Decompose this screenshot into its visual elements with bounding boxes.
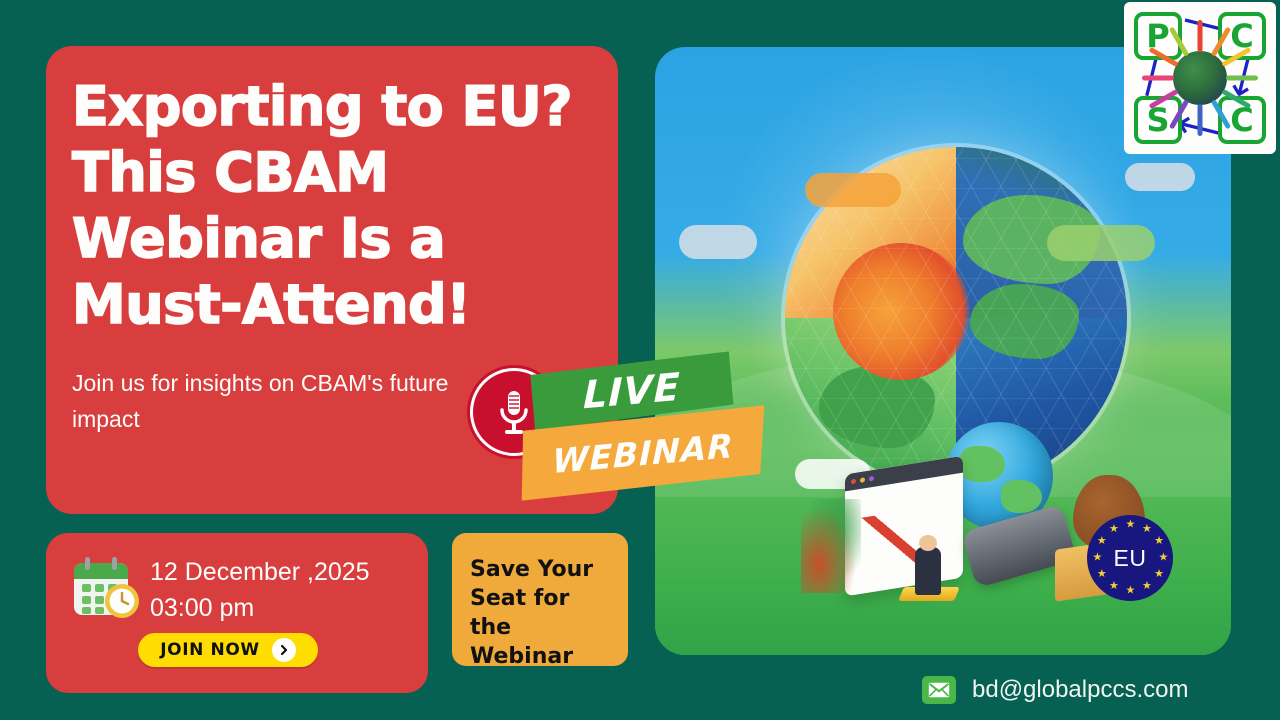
logo-globe-icon — [1173, 51, 1227, 105]
eu-badge: EU ★★★★★★★★★★★★ — [1087, 515, 1173, 601]
event-date-card: 12 December ,2025 03:00 pm JOIN NOW — [46, 533, 428, 693]
eu-star-icon: ★ — [1097, 570, 1106, 579]
logo-person-icon — [1198, 104, 1203, 136]
cloud-icon — [1125, 163, 1195, 191]
eu-star-icon: ★ — [1142, 582, 1151, 591]
eu-star-icon: ★ — [1109, 582, 1118, 591]
logo-person-icon — [1226, 76, 1258, 81]
eu-star-icon: ★ — [1154, 570, 1163, 579]
live-label: LIVE — [583, 365, 681, 418]
calendar-clock-icon — [70, 555, 142, 621]
logo-person-icon — [1198, 20, 1203, 52]
analytics-screen-graphic — [845, 456, 963, 597]
page-title: Exporting to EU? This CBAM Webinar Is a … — [72, 74, 592, 338]
event-datetime: 12 December ,2025 03:00 pm — [150, 555, 370, 626]
save-seat-label: Save Your Seat for the Webinar — [470, 555, 610, 671]
eu-star-icon: ★ — [1109, 525, 1118, 534]
logo-person-icon — [1142, 76, 1174, 81]
chevron-right-icon — [272, 638, 296, 662]
eu-star-icon: ★ — [1159, 554, 1168, 563]
cloud-icon — [1047, 225, 1155, 261]
hero-subtitle: Join us for insights on CBAM's future im… — [72, 366, 462, 437]
join-now-button[interactable]: JOIN NOW — [138, 633, 318, 667]
eu-label: EU — [1114, 545, 1147, 572]
eu-star-icon: ★ — [1154, 537, 1163, 546]
contact-email-row[interactable]: bd@globalpccs.com — [922, 676, 1188, 704]
pccs-recycle-logo: ⟶ ⟶ ⟶ ⟶ P C S C — [1124, 2, 1276, 154]
cloud-icon — [679, 225, 757, 259]
event-date: 12 December ,2025 — [150, 555, 370, 591]
envelope-icon — [922, 676, 956, 704]
event-time: 03:00 pm — [150, 591, 370, 627]
contact-email: bd@globalpccs.com — [972, 676, 1188, 704]
eu-star-icon: ★ — [1126, 521, 1135, 530]
join-now-label: JOIN NOW — [160, 640, 259, 660]
cloud-icon — [805, 173, 901, 207]
eu-star-icon: ★ — [1142, 525, 1151, 534]
webinar-label: WEBINAR — [552, 425, 734, 480]
eu-star-icon: ★ — [1097, 537, 1106, 546]
save-seat-cta-card[interactable]: Save Your Seat for the Webinar — [452, 533, 628, 666]
plant-graphic — [801, 499, 861, 593]
eu-star-icon: ★ — [1126, 587, 1135, 596]
eu-star-icon: ★ — [1093, 554, 1102, 563]
businessperson-graphic — [915, 547, 941, 595]
